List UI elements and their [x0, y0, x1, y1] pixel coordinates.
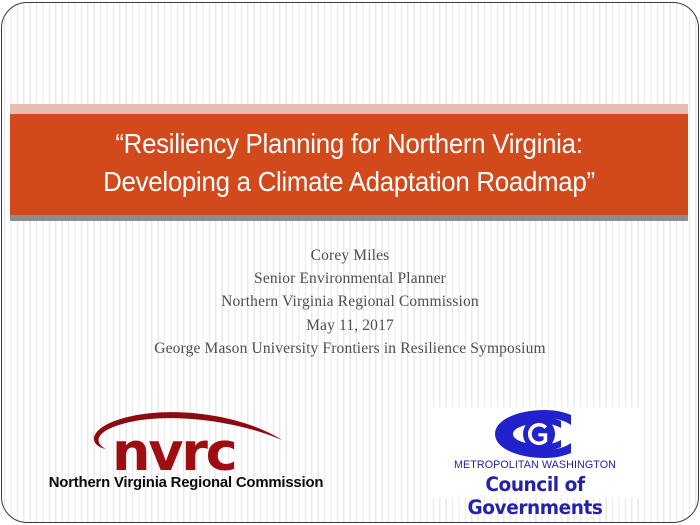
presentation-event: George Mason University Frontiers in Res…: [0, 337, 700, 360]
presenter-name: Corey Miles: [0, 244, 700, 267]
banner-shadow-strip: [10, 215, 688, 221]
nvrc-tagline: Northern Virginia Regional Commission: [39, 474, 333, 491]
presenter-organization: Northern Virginia Regional Commission: [0, 290, 700, 313]
mwcog-logo: METROPOLITAN WASHINGTON Council of Gover…: [428, 407, 642, 498]
presenter-info-block: Corey Miles Senior Environmental Planner…: [0, 244, 700, 360]
slide-title-line-2: Developing a Climate Adaptation Roadmap”: [47, 163, 650, 201]
presenter-title: Senior Environmental Planner: [0, 267, 700, 290]
mwcog-line-1: METROPOLITAN WASHINGTON: [434, 459, 635, 471]
mwcog-line-2: Council of Governments: [432, 473, 637, 519]
slide-title-line-1: “Resiliency Planning for Northern Virgin…: [47, 125, 650, 163]
presentation-slide: “Resiliency Planning for Northern Virgin…: [0, 0, 700, 525]
presentation-date: May 11, 2017: [0, 314, 700, 337]
title-banner: “Resiliency Planning for Northern Virgin…: [10, 104, 688, 221]
banner-top-accent-strip: [10, 104, 688, 114]
cog-emblem-icon: [489, 409, 581, 459]
nvrc-wordmark: nvrc: [112, 426, 235, 479]
nvrc-logo: nvrc Northern Virginia Regional Commissi…: [36, 408, 336, 502]
banner-body: “Resiliency Planning for Northern Virgin…: [10, 114, 688, 215]
